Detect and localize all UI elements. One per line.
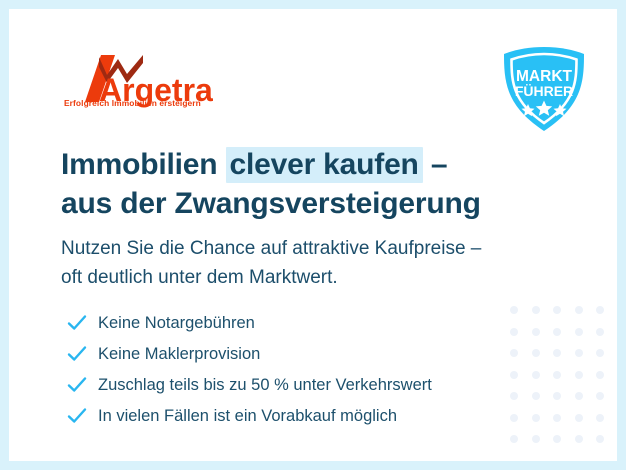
check-icon	[64, 403, 90, 429]
decorative-dot	[532, 435, 540, 443]
list-item-label: In vielen Fällen ist ein Vorabkauf mögli…	[98, 406, 397, 426]
decorative-dot	[596, 306, 604, 314]
decorative-dot	[553, 328, 561, 336]
subtitle-line1: Nutzen Sie die Chance auf attraktive Kau…	[61, 238, 481, 259]
decorative-dot	[575, 306, 583, 314]
markt-fuehrer-badge: MARKT FÜHRER	[498, 44, 590, 134]
list-item: Keine Maklerprovision	[64, 338, 534, 369]
headline-line2: aus der Zwangsversteigerung	[61, 184, 581, 223]
shield-icon: MARKT FÜHRER	[498, 44, 590, 134]
decorative-dot	[553, 392, 561, 400]
decorative-dot	[575, 414, 583, 422]
decorative-dot	[553, 371, 561, 379]
decorative-dot	[575, 371, 583, 379]
list-item: Zuschlag teils bis zu 50 % unter Verkehr…	[64, 369, 534, 400]
decorative-dot	[596, 414, 604, 422]
page-subtitle: Nutzen Sie die Chance auf attraktive Kau…	[61, 234, 581, 292]
decorative-dot	[553, 349, 561, 357]
decorative-dot	[596, 435, 604, 443]
decorative-dot	[575, 349, 583, 357]
list-item-label: Keine Maklerprovision	[98, 344, 260, 364]
decorative-dot	[596, 371, 604, 379]
list-item: In vielen Fällen ist ein Vorabkauf mögli…	[64, 400, 534, 431]
decorative-dot	[510, 435, 518, 443]
decorative-dot	[596, 328, 604, 336]
decorative-dot	[553, 435, 561, 443]
decorative-dot	[553, 306, 561, 314]
list-item-label: Keine Notargebühren	[98, 313, 255, 333]
decorative-dot	[596, 392, 604, 400]
page-title: Immobilien clever kaufen – aus der Zwang…	[61, 145, 581, 223]
banner-card: Argetra Erfolgreich Immobilien ersteiger…	[9, 9, 617, 461]
logo-tagline: Erfolgreich Immobilien ersteigern	[64, 98, 201, 108]
decorative-dot	[553, 414, 561, 422]
headline-part2: –	[423, 148, 448, 181]
headline-part1: Immobilien	[61, 148, 226, 181]
check-icon	[64, 372, 90, 398]
decorative-dot	[596, 349, 604, 357]
decorative-dot	[575, 435, 583, 443]
badge-line2: FÜHRER	[515, 83, 573, 99]
subtitle-line2: oft deutlich unter dem Marktwert.	[61, 267, 338, 288]
check-icon	[64, 341, 90, 367]
headline-highlight: clever kaufen	[226, 147, 423, 183]
list-item: Keine Notargebühren	[64, 307, 534, 338]
decorative-dot	[575, 328, 583, 336]
argetra-logo[interactable]: Argetra Erfolgreich Immobilien ersteiger…	[63, 53, 223, 115]
check-icon	[64, 310, 90, 336]
list-item-label: Zuschlag teils bis zu 50 % unter Verkehr…	[98, 375, 432, 395]
decorative-dot	[575, 392, 583, 400]
benefits-list: Keine NotargebührenKeine Maklerprovision…	[64, 307, 534, 431]
promo-banner: Argetra Erfolgreich Immobilien ersteiger…	[0, 0, 626, 470]
